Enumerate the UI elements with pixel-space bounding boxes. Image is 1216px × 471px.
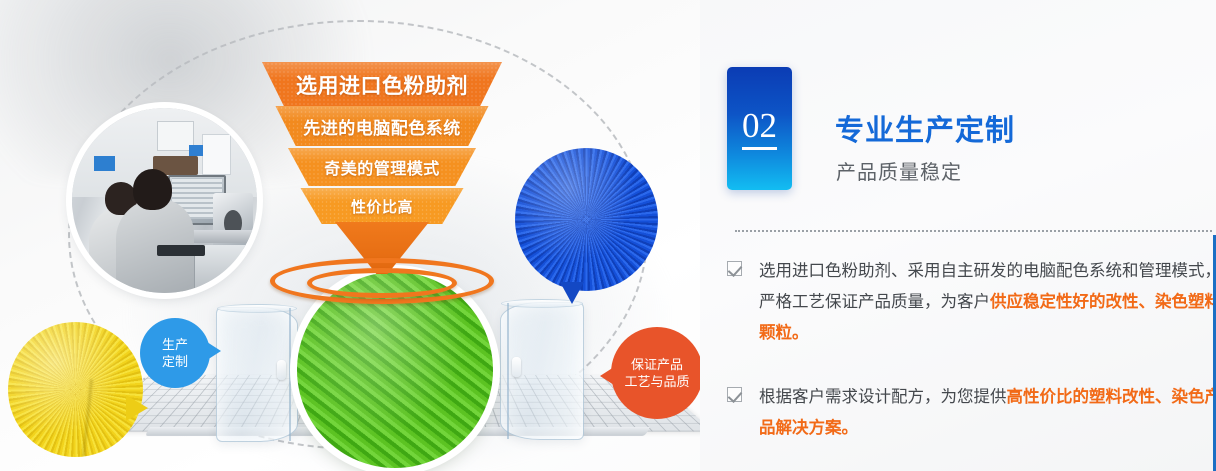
glass-rim-left: [217, 304, 297, 313]
checkbox-check-icon: [727, 261, 742, 276]
product-illustration-panel: 选用进口色粉助剂 先进的电脑配色系统 奇美的管理模式 性价比高: [0, 0, 700, 471]
badge-quality-guarantee[interactable]: 保证产品 工艺与品质: [611, 327, 700, 419]
photo-worker-head-2: [133, 169, 172, 210]
glass-handle-right: [512, 357, 521, 377]
yellow-powder-circle: [8, 322, 143, 457]
blue-powder-tail: [560, 282, 584, 304]
feature-bullet-2-text: 根据客户需求设计配方，为您提供高性价比的塑料改性、染色产 品解决方案。: [759, 382, 1216, 444]
page-subtitle: 产品质量稳定: [836, 156, 962, 185]
funnel-band-3: 奇美的管理模式: [288, 148, 476, 186]
promo-banner: 选用进口色粉助剂 先进的电脑配色系统 奇美的管理模式 性价比高: [0, 0, 1216, 471]
feature-content-panel: 02 专业生产定制 产品质量稳定 选用进口色粉助剂、采用自主研发的电脑配色系统和…: [700, 0, 1216, 471]
photo-blue-box-1: [94, 156, 114, 171]
bullet-1-line-2: 严格工艺保证产品质量，为客户供应稳定性好的改性、染色塑料: [759, 287, 1216, 318]
photo-document-2: [202, 134, 232, 175]
funnel-band-2: 先进的电脑配色系统: [276, 106, 489, 146]
photo-blue-box-2: [189, 145, 204, 156]
feature-bullet-2: 根据客户需求设计配方，为您提供高性价比的塑料改性、染色产 品解决方案。: [727, 382, 1216, 444]
funnel-band-3-label: 奇美的管理模式: [324, 155, 440, 179]
bullet-1-line-1: 选用进口色粉助剂、采用自主研发的电脑配色系统和管理模式，: [759, 256, 1216, 287]
feature-bullet-1-text: 选用进口色粉助剂、采用自主研发的电脑配色系统和管理模式， 严格工艺保证产品质量，…: [759, 256, 1216, 349]
badge-production-custom[interactable]: 生产 定制: [140, 318, 210, 388]
section-divider: [735, 230, 1212, 232]
funnel-band-2-label: 先进的电脑配色系统: [303, 114, 461, 139]
glass-seam-left: [289, 308, 291, 441]
badge-orange-pointer: [600, 367, 614, 385]
funnel-band-4-label: 性价比高: [351, 196, 413, 217]
badge-blue-line-1: 生产: [162, 336, 188, 353]
workers-photo-circle: [72, 108, 257, 293]
badge-blue-line-2: 定制: [162, 353, 188, 370]
badge-orange-line-1: 保证产品: [631, 356, 683, 373]
photo-keyboard: [157, 245, 205, 256]
badge-orange-line-2: 工艺与品质: [624, 373, 689, 390]
badge-blue-pointer: [207, 342, 221, 360]
bullet-2-line-1: 根据客户需求设计配方，为您提供高性价比的塑料改性、染色产: [759, 382, 1216, 413]
funnel-band-1-label: 选用进口色粉助剂: [296, 70, 468, 100]
glass-seam-right: [507, 303, 509, 439]
page-title: 专业生产定制: [835, 107, 1015, 149]
checkbox-check-icon: [727, 387, 742, 402]
yellow-powder-tail: [126, 395, 148, 421]
bullet-2-line-2: 品解决方案。: [759, 413, 1216, 444]
section-number-badge: 02: [727, 67, 792, 190]
section-number: 02: [742, 108, 777, 150]
glass-cylinder-right: [500, 302, 584, 440]
blue-powder-circle: [515, 148, 658, 291]
funnel-band-1: 选用进口色粉助剂: [262, 62, 502, 108]
feature-bullet-1: 选用进口色粉助剂、采用自主研发的电脑配色系统和管理模式， 严格工艺保证产品质量，…: [727, 256, 1216, 349]
bullet-1-line-3: 颗粒。: [759, 318, 1216, 349]
funnel-ring-inner: [307, 268, 457, 298]
process-funnel: 选用进口色粉助剂 先进的电脑配色系统 奇美的管理模式 性价比高: [262, 62, 502, 237]
glass-handle-left: [277, 360, 286, 380]
glass-cylinder-left: [216, 307, 298, 442]
funnel-band-4: 性价比高: [301, 188, 464, 224]
